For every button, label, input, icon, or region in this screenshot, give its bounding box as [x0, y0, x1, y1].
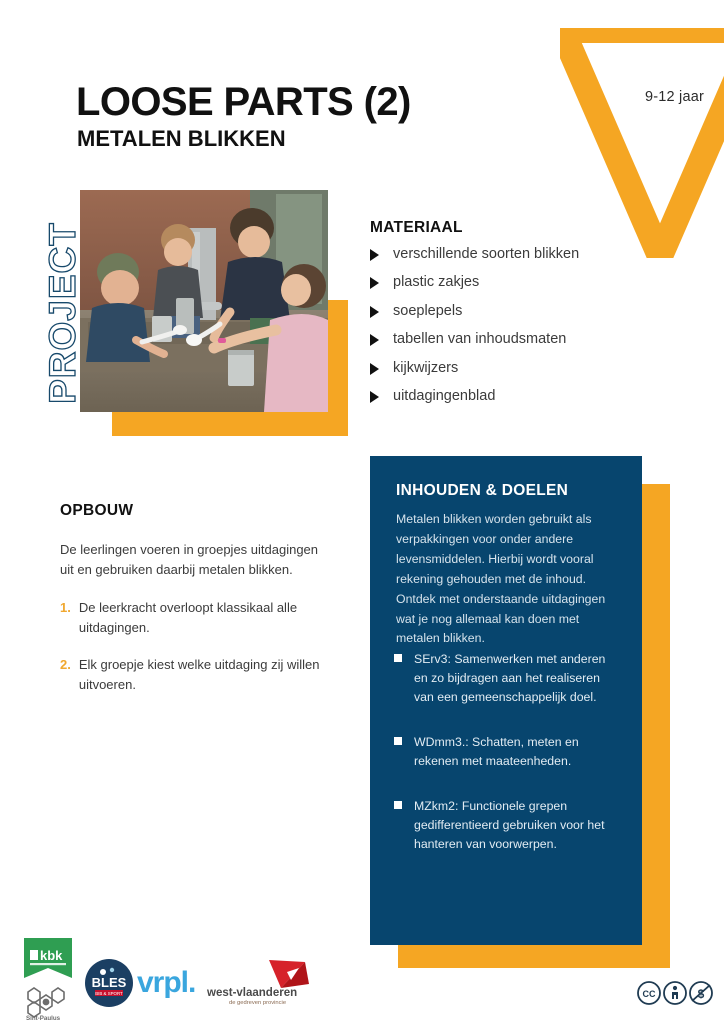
inhouden-heading: INHOUDEN & DOELEN	[396, 482, 626, 500]
step-number: 2.	[60, 655, 71, 695]
triangle-bullet-icon	[370, 363, 379, 375]
materiaal-item-label: plastic zakjes	[393, 274, 479, 291]
square-bullet-icon	[394, 654, 402, 662]
goal-text: SErv3: Samenwerken met anderen en zo bij…	[414, 650, 619, 707]
inhouden-body-text: Metalen blikken worden gebruikt als verp…	[396, 510, 608, 649]
materiaal-list: verschillende soorten blikken plastic za…	[370, 246, 660, 405]
triangle-bullet-icon	[370, 334, 379, 346]
list-item: 1. De leerkracht overloopt klassikaal al…	[60, 598, 330, 638]
bles-logo-text: BLES	[134, 958, 135, 959]
triangle-bullet-icon	[370, 391, 379, 403]
list-item: tabellen van inhoudsmaten	[370, 331, 660, 348]
triangle-bullet-icon	[370, 277, 379, 289]
step-text: Elk groepje kiest welke uitdaging zij wi…	[79, 655, 330, 695]
age-range-badge: 9-12 jaar	[645, 89, 704, 105]
activity-photo	[80, 190, 328, 412]
license-icons: CC $	[636, 980, 714, 1006]
list-item: uitdagingenblad	[370, 388, 660, 405]
square-bullet-icon	[394, 737, 402, 745]
svg-text:west-vlaanderen: west-vlaanderen	[206, 987, 297, 999]
sint-paulus-logo: Sint-Paulus Sint-Paulus	[22, 986, 80, 1022]
list-item: SErv3: Samenwerken met anderen en zo bij…	[394, 650, 619, 707]
step-number: 1.	[60, 598, 71, 638]
footer-logos: kbk kbk Sint-Paulus Sint-Paulus	[0, 930, 724, 1024]
step-text: De leerkracht overloopt klassikaal alle …	[79, 598, 330, 638]
goals-list: SErv3: Samenwerken met anderen en zo bij…	[394, 650, 619, 880]
materiaal-heading: MATERIAAL	[370, 219, 660, 237]
goal-text: MZkm2: Functionele grepen gedifferentiee…	[414, 797, 619, 854]
kbk-logo: kbk kbk	[22, 938, 74, 986]
list-item: plastic zakjes	[370, 274, 660, 291]
svg-text:BLES: BLES	[92, 975, 127, 990]
page-title: LOOSE PARTS (2)	[76, 82, 411, 122]
materiaal-item-label: soeplepels	[393, 303, 462, 320]
kbk-logo-text: kbk	[74, 938, 75, 939]
list-item: WDmm3.: Schatten, meten en rekenen met m…	[394, 733, 619, 771]
materiaal-item-label: kijkwijzers	[393, 360, 458, 377]
bles-logo: BLES BIB & SPORT BLES	[84, 958, 134, 1008]
materiaal-item-label: tabellen van inhoudsmaten	[393, 331, 566, 348]
list-item: verschillende soorten blikken	[370, 246, 660, 263]
svg-text:BIB & SPORT: BIB & SPORT	[95, 991, 123, 996]
west-vlaanderen-tagline: de gedreven provincie	[315, 958, 316, 959]
west-vlaanderen-logo-text: west-vlaanderen	[315, 958, 316, 959]
poster-page: 9-12 jaar LOOSE PARTS (2) METALEN BLIKKE…	[0, 0, 724, 1024]
svg-text:kbk: kbk	[40, 948, 63, 963]
opbouw-heading: OPBOUW	[60, 502, 330, 520]
materiaal-item-label: uitdagingenblad	[393, 388, 495, 405]
svg-text:CC: CC	[643, 989, 656, 999]
svg-text:de gedreven provincie: de gedreven provincie	[229, 1000, 286, 1006]
goal-text: WDmm3.: Schatten, meten en rekenen met m…	[414, 733, 619, 771]
list-item: 2. Elk groepje kiest welke uitdaging zij…	[60, 655, 330, 695]
list-item: kijkwijzers	[370, 360, 660, 377]
opbouw-intro-text: De leerlingen voeren in groepjes uitdagi…	[60, 540, 330, 580]
vrpl-logo: vrpl.	[137, 966, 195, 1000]
materiaal-section: MATERIAAL verschillende soorten blikken …	[370, 219, 660, 416]
list-item: MZkm2: Functionele grepen gedifferentiee…	[394, 797, 619, 854]
materiaal-item-label: verschillende soorten blikken	[393, 246, 579, 263]
opbouw-section: OPBOUW De leerlingen voeren in groepjes …	[60, 502, 330, 711]
square-bullet-icon	[394, 801, 402, 809]
svg-text:Sint-Paulus: Sint-Paulus	[26, 1015, 61, 1022]
triangle-bullet-icon	[370, 249, 379, 261]
triangle-bullet-icon	[370, 306, 379, 318]
page-subtitle: METALEN BLIKKEN	[77, 128, 286, 150]
west-vlaanderen-logo: west-vlaanderen de gedreven provincie we…	[205, 958, 315, 1006]
list-item: soeplepels	[370, 303, 660, 320]
project-vertical-label: PROJECT	[42, 188, 84, 438]
sint-paulus-logo-text: Sint-Paulus	[80, 986, 81, 987]
